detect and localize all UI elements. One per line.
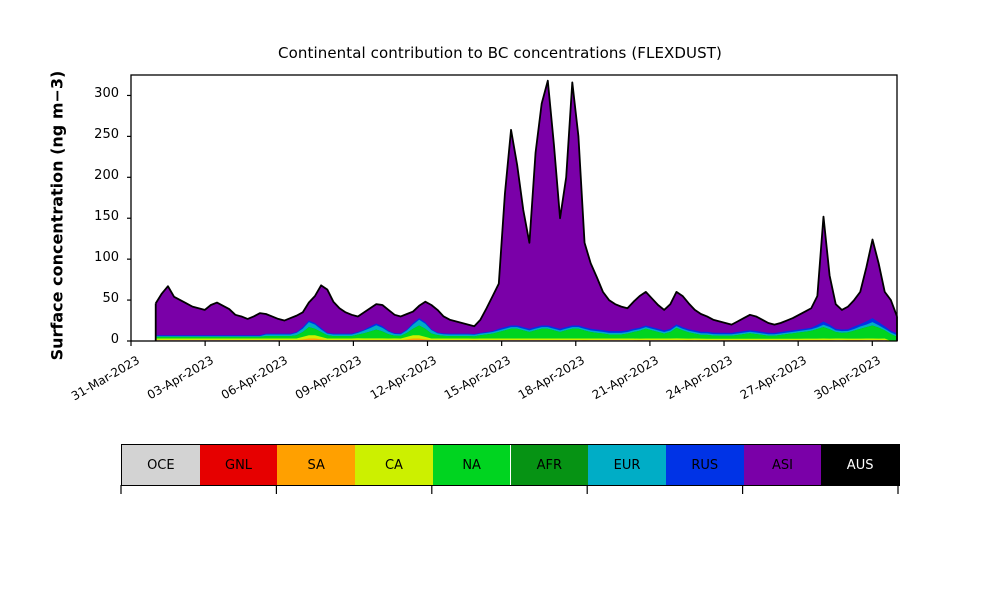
legend-item-label: AFR: [537, 458, 562, 473]
chart-title: Continental contribution to BC concentra…: [0, 44, 1000, 62]
legend-item-afr[interactable]: AFR: [511, 445, 589, 485]
legend-item-label: OCE: [147, 458, 175, 473]
y-tick-label: 100: [79, 250, 119, 265]
stacked-area-plot: [0, 0, 1000, 600]
legend-item-label: AUS: [847, 458, 874, 473]
figure-canvas: Continental contribution to BC concentra…: [0, 0, 1000, 600]
area-series-group: [156, 81, 897, 341]
legend-item-label: NA: [462, 458, 481, 473]
legend-item-rus[interactable]: RUS: [666, 445, 744, 485]
legend-item-sa[interactable]: SA: [277, 445, 355, 485]
y-tick-label: 0: [79, 332, 119, 347]
legend-item-ca[interactable]: CA: [355, 445, 433, 485]
area-series-asi: [156, 81, 897, 341]
legend-item-label: ASI: [772, 458, 793, 473]
y-tick-label: 50: [79, 291, 119, 306]
legend-item-gnl[interactable]: GNL: [200, 445, 278, 485]
legend-item-label: EUR: [614, 458, 641, 473]
legend-item-label: GNL: [225, 458, 252, 473]
legend-item-oce[interactable]: OCE: [122, 445, 200, 485]
legend-item-na[interactable]: NA: [433, 445, 511, 485]
legend-colorbar[interactable]: OCEGNLSACANAAFREURRUSASIAUS: [121, 444, 900, 486]
legend-item-asi[interactable]: ASI: [744, 445, 822, 485]
legend-item-label: CA: [385, 458, 403, 473]
y-tick-label: 300: [79, 86, 119, 101]
y-tick-label: 150: [79, 209, 119, 224]
legend-item-aus[interactable]: AUS: [821, 445, 899, 485]
legend-item-eur[interactable]: EUR: [588, 445, 666, 485]
y-tick-label: 200: [79, 168, 119, 183]
legend-item-label: RUS: [691, 458, 718, 473]
y-tick-label: 250: [79, 127, 119, 142]
legend-item-label: SA: [308, 458, 325, 473]
y-axis-label: Surface concentration (ng m−3): [48, 51, 67, 381]
